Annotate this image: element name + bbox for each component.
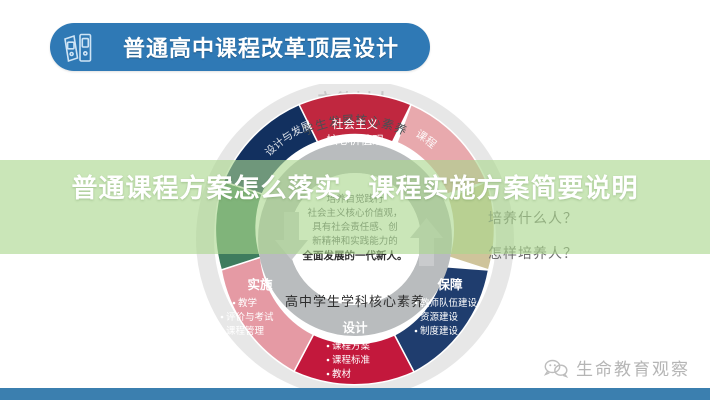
question-what-kind-of-person: 培养什么人？	[488, 208, 578, 228]
center-line-1: 培养自觉践行	[326, 193, 384, 205]
support-item-3: 制度建设	[420, 325, 459, 337]
inner-ring-bottom-label: 高中学生学科核心素养	[285, 294, 425, 310]
implement-item-2: 评价与考试	[226, 311, 274, 323]
center-line-5: 全面发展的一代新人。	[302, 249, 408, 262]
implement-item-1: 教学	[238, 297, 257, 309]
implement-item-3: 课程管理	[226, 325, 265, 337]
core-values-line-2: 核心价值观	[326, 133, 384, 147]
design-item-2: 课程标准	[332, 354, 371, 366]
page-banner: 普通高中课程改革顶层设计	[50, 23, 430, 71]
center-line-2: 社会主义核心价值观，	[307, 207, 402, 219]
support-item-1: 教师队伍建设	[420, 297, 478, 309]
banner-title: 普通高中课程改革顶层设计	[112, 31, 430, 63]
center-line-3: 具有社会责任感、创	[312, 221, 398, 233]
watermark: 生命教育观察	[543, 355, 690, 380]
design-title: 设计	[342, 320, 368, 335]
watermark-text: 生命教育观察	[576, 355, 690, 380]
segment-left-green	[215, 182, 262, 270]
implement-title: 实施	[247, 277, 273, 292]
core-values-line-1: 社会主义	[332, 117, 378, 131]
center-line-4: 新精神和实践能力的	[312, 235, 398, 247]
design-item-3: 教材	[332, 368, 352, 380]
screenshot-canvas: 普通高中课程改革顶层设计 立德树人	[0, 0, 710, 400]
bottom-accent-strip	[0, 388, 710, 400]
design-item-1: 课程方案	[332, 340, 371, 352]
question-how-to-cultivate: 怎样培养人？	[488, 243, 578, 263]
wechat-official-account-icon	[543, 357, 569, 379]
binders-icon	[50, 23, 112, 71]
support-title: 保障	[436, 277, 463, 292]
support-item-2: 资源建设	[420, 311, 459, 323]
course-reform-wheel-diagram: 培养自觉践行 社会主义核心价值观， 具有社会责任感、创 新精神和实践能力的 全面…	[180, 84, 530, 394]
